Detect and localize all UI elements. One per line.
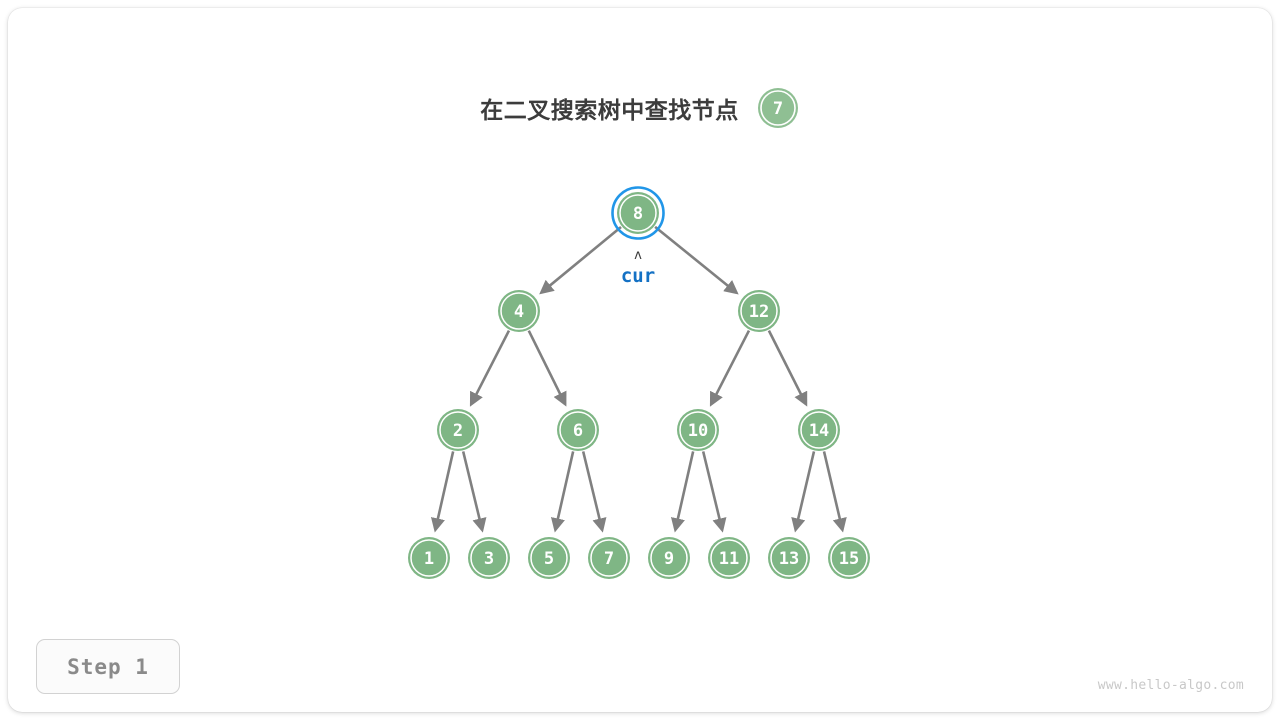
node-value: 4 — [514, 302, 524, 322]
node-value: 11 — [719, 549, 739, 569]
diagram-canvas: 在二叉搜索树中查找节点 7 841226101413579111315 ʌ cu… — [0, 0, 1280, 720]
step-indicator: Step 1 — [36, 639, 180, 694]
tree-edge — [555, 451, 573, 529]
tree-edge — [769, 331, 806, 404]
tree-edge — [471, 331, 509, 405]
tree-edge — [529, 331, 565, 404]
tree-nodes: 841226101413579111315 — [408, 188, 870, 580]
node-value: 14 — [809, 421, 829, 441]
tree-node[interactable]: 1 — [408, 537, 450, 579]
node-value: 12 — [749, 302, 769, 322]
node-value: 5 — [544, 549, 554, 569]
tree-edge — [435, 451, 453, 529]
tree-edge — [541, 227, 621, 293]
tree-node[interactable]: 2 — [437, 409, 479, 451]
tree-node[interactable]: 4 — [498, 290, 540, 332]
node-value: 10 — [688, 421, 708, 441]
tree-edge — [583, 451, 602, 529]
node-value: 2 — [453, 421, 463, 441]
binary-search-tree: 841226101413579111315 ʌ cur — [0, 0, 1280, 720]
cur-pointer: ʌ cur — [621, 248, 655, 287]
cur-pointer-label: cur — [621, 265, 655, 287]
tree-edge — [796, 451, 814, 529]
tree-edge — [703, 451, 722, 529]
node-value: 13 — [779, 549, 799, 569]
tree-node[interactable]: 15 — [828, 537, 870, 579]
caret-icon: ʌ — [634, 248, 642, 263]
tree-node[interactable]: 14 — [798, 409, 840, 451]
node-value: 7 — [604, 549, 614, 569]
tree-node[interactable]: 11 — [708, 537, 750, 579]
tree-node[interactable]: 13 — [768, 537, 810, 579]
node-value: 9 — [664, 549, 674, 569]
tree-edge — [655, 227, 736, 293]
node-value: 8 — [633, 204, 643, 224]
tree-node[interactable]: 12 — [738, 290, 780, 332]
node-value: 1 — [424, 549, 434, 569]
tree-edge — [463, 451, 482, 529]
tree-node[interactable]: 8 — [613, 188, 664, 239]
tree-edge — [675, 451, 693, 529]
node-value: 15 — [839, 549, 859, 569]
tree-node[interactable]: 10 — [677, 409, 719, 451]
tree-node[interactable]: 5 — [528, 537, 570, 579]
node-value: 3 — [484, 549, 494, 569]
node-value: 6 — [573, 421, 583, 441]
tree-node[interactable]: 3 — [468, 537, 510, 579]
tree-edge — [824, 451, 842, 529]
tree-node[interactable]: 7 — [588, 537, 630, 579]
tree-node[interactable]: 9 — [648, 537, 690, 579]
watermark: www.hello-algo.com — [1098, 678, 1244, 693]
tree-node[interactable]: 6 — [557, 409, 599, 451]
step-label: Step 1 — [67, 655, 149, 679]
tree-edge — [711, 331, 749, 405]
